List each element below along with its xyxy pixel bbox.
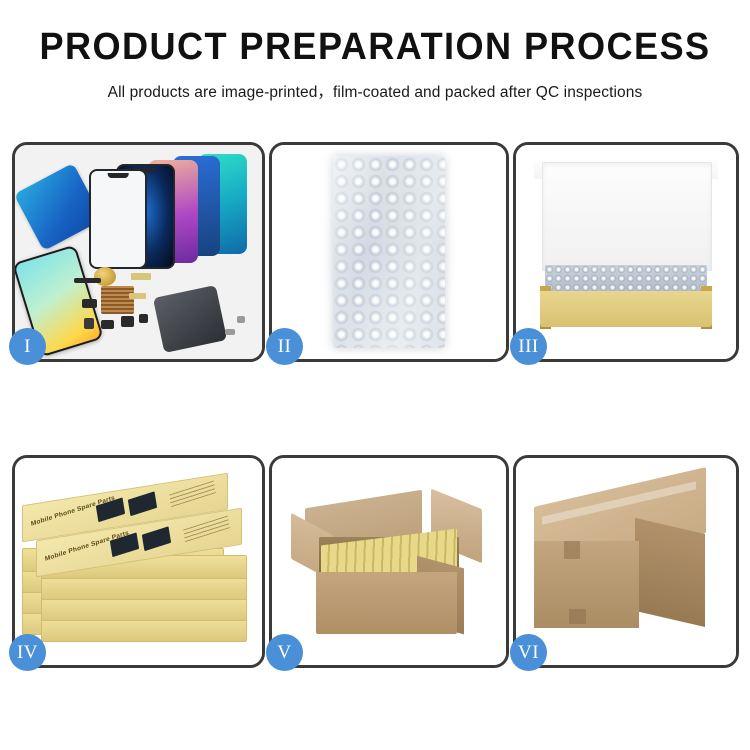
bubble-wrap-sheen [333,156,445,349]
box-spec-lines [170,480,216,506]
carton-front-face [316,572,456,634]
process-step-panel-3[interactable]: III [513,142,739,362]
vibration-coil-part [94,267,116,286]
carton-front-face [534,541,640,628]
process-step-panel-1[interactable]: I [12,142,265,362]
stacked-box [41,597,247,621]
box-white-lid [542,162,711,271]
process-step-panel-4[interactable]: Mobile Phone Spare Parts Mobile Phone Sp… [12,455,265,668]
small-part [82,299,97,308]
box-stack: Mobile Phone Spare Parts Mobile Phone Sp… [22,479,254,653]
step-3-image [516,145,736,359]
screw-part [225,329,235,335]
step-6-image [516,458,736,665]
small-part [74,278,101,283]
box-spec-lines [184,515,230,541]
process-step-panel-6[interactable]: VI [513,455,739,668]
stacked-box [41,576,247,600]
step-4-image: Mobile Phone Spare Parts Mobile Phone Sp… [15,458,262,665]
small-part [84,318,94,329]
page-header: PRODUCT PREPARATION PROCESS All products… [0,0,750,102]
carton-right-side [635,518,705,627]
box-kraft-front [540,291,712,327]
step-5-image [272,458,506,665]
small-part [139,314,149,323]
step-badge-5: V [266,634,303,671]
carton-tape-mark [564,541,579,560]
step-badge-2: II [266,328,303,365]
step-2-image [272,145,506,359]
flex-cable-part [129,293,146,299]
step-badge-1: I [9,328,46,365]
bubble-wrap-sheet [333,156,445,349]
page-subtitle: All products are image-printed，film-coat… [0,80,750,102]
process-step-grid: I II III [12,142,738,668]
logic-board-part [101,286,133,314]
phone-white-glass [89,169,147,269]
step-1-image [15,145,262,359]
bubble-wrapped-contents [545,265,708,293]
small-part [121,316,133,327]
stacked-box [41,618,247,642]
step-badge-4: IV [9,634,46,671]
box-artwork-thumb [128,491,157,516]
carton-tape-mark [569,609,587,623]
phone-back-housing [153,284,227,352]
step-badge-6: VI [510,634,547,671]
screw-part [237,316,244,322]
process-step-panel-2[interactable]: II [269,142,509,362]
step-badge-3: III [510,328,547,365]
process-step-panel-5[interactable]: V [269,455,509,668]
page-title: PRODUCT PREPARATION PROCESS [19,28,732,66]
box-artwork-thumb [142,526,171,551]
small-part [101,320,113,329]
phone-notch [108,173,129,178]
flex-cable-part [131,273,151,279]
